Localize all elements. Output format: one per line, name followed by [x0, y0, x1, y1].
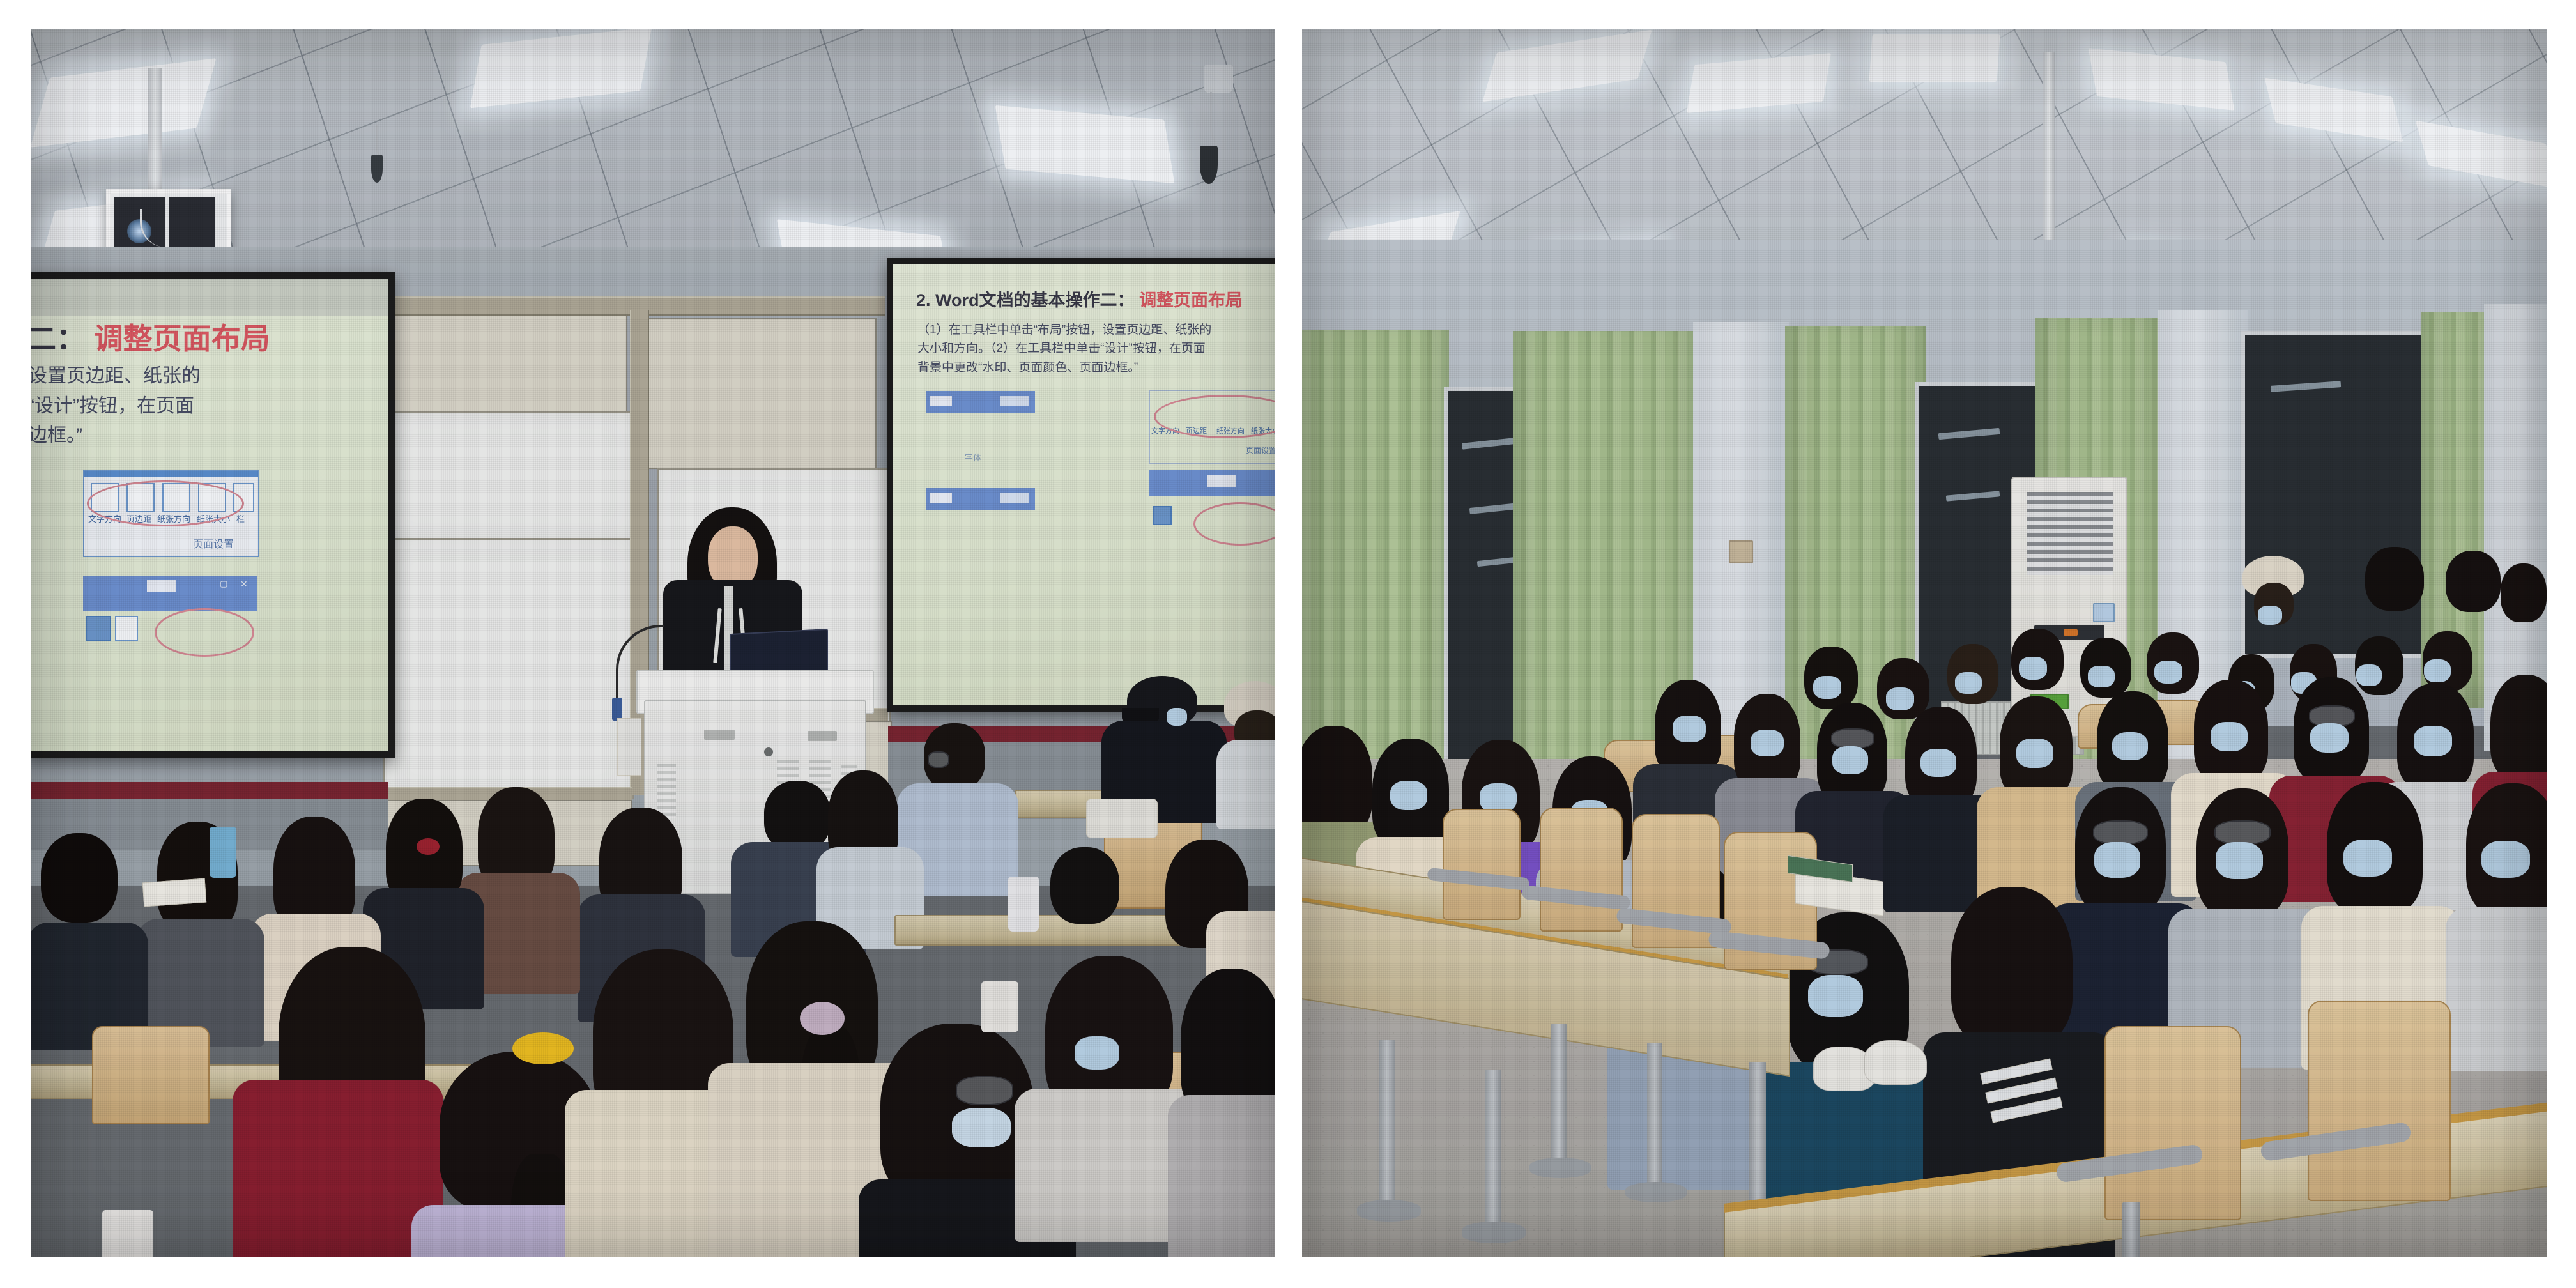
flip-seat-back [1443, 809, 1521, 920]
ribbon-group-label: 字体 [965, 451, 981, 463]
podium-side-panel [617, 718, 641, 776]
desk-foot [1462, 1222, 1526, 1243]
titlebar-chip [1000, 493, 1029, 503]
whiteboard [383, 411, 634, 540]
face-mask [2424, 659, 2451, 682]
projection-screen-right: 2. Word文档的基本操作二： 调整页面布局 （1）在工具栏中单击“布局”按钮… [887, 258, 1275, 712]
face-mask [1390, 781, 1427, 810]
face-mask [1808, 975, 1863, 1017]
slide-body-right: （1）在工具栏中单击“布局”按钮，设置页边距、纸张的 大小和方向。（2）在工具栏… [917, 321, 1275, 377]
seat-leg [1551, 1023, 1567, 1164]
titlebar-chip [1207, 475, 1236, 487]
flip-seat-back [1540, 808, 1623, 931]
slide-title-right: 2. Word文档的基本操作二： 调整页面布局 [916, 286, 1243, 311]
slide-body-line: （1）在工具栏中单击“布局”按钮，设置页边距、纸张的 [917, 321, 1275, 339]
screen-surface-left: 二： 调整页面布局 设置页边距、纸张的 “设计”按钮，在页面 边框。” [31, 279, 388, 751]
photo-composite: 二： 调整页面布局 设置页边距、纸张的 “设计”按钮，在页面 边框。” [0, 0, 2576, 1288]
face-mask [1920, 749, 1956, 777]
window-light-reflection [1938, 428, 2000, 440]
wall-panel [644, 318, 877, 469]
water-bottle [1008, 877, 1039, 931]
right-photo-classroom-audience [1302, 29, 2547, 1257]
desk-foot [1357, 1200, 1421, 1222]
maximize-icon: ▢ [220, 579, 227, 589]
face-mask [2019, 657, 2047, 680]
ribbon-accent-bar [84, 471, 258, 477]
podium-slot [704, 730, 735, 740]
annotation-ellipse [155, 608, 254, 657]
hair-scrunchie [417, 838, 440, 855]
slide-body-left: 设置页边距、纸张的 “设计”按钮，在页面 边框。” [31, 362, 201, 451]
face-mask [1751, 730, 1784, 756]
ribbon-label: 栏 [236, 512, 245, 525]
face-mask [2154, 661, 2182, 684]
face-mask [1075, 1036, 1119, 1069]
slide-title-prefix: 二： [31, 322, 86, 355]
hair-clip [512, 1032, 574, 1064]
audience-chairback [92, 1026, 210, 1124]
eyeglasses [956, 1076, 1013, 1105]
face-mask [2356, 664, 2382, 686]
face-mask [1813, 676, 1841, 699]
face-mask [2211, 722, 2248, 751]
slide-body-line: 大小和方向。（2）在工具栏中单击“设计”按钮，在页面 [917, 339, 1275, 358]
annotation-ellipse [87, 480, 244, 526]
podium-slot [808, 731, 837, 741]
face-mask [2216, 842, 2263, 879]
word-titlebar-mock: — ▢ ✕ [83, 576, 257, 611]
face-mask [1167, 708, 1187, 726]
close-icon: ✕ [240, 579, 248, 590]
ceiling-light [1869, 34, 2000, 82]
eyeglasses [2214, 820, 2271, 845]
projection-screen-left: 二： 调整页面布局 设置页边距、纸张的 “设计”按钮，在页面 边框。” [31, 272, 395, 758]
student-head [41, 833, 118, 923]
face-mask [1832, 746, 1868, 774]
thermos-cup [102, 1210, 153, 1257]
face-mask [2112, 732, 2148, 760]
seat-foot [1625, 1182, 1687, 1202]
wall-outlet [1729, 540, 1753, 563]
ceiling-speaker [1200, 146, 1218, 184]
wall-panel [388, 310, 627, 414]
titlebar-chip [147, 580, 176, 592]
face-mask [1955, 672, 1982, 694]
face-mask [2414, 726, 2452, 756]
slide-body-line: 背景中更改“水印、页面颜色、页面边框。” [917, 358, 1275, 377]
face-mask [2310, 723, 2349, 753]
annotation-ellipse [1193, 502, 1275, 546]
screen-surface-right: 2. Word文档的基本操作二： 调整页面布局 （1）在工具栏中单击“布局”按钮… [893, 264, 1275, 705]
desk-leg [1379, 1040, 1395, 1206]
jacket-on-desk [1086, 799, 1158, 838]
seat-leg [1749, 1062, 1766, 1215]
face-mask [2258, 606, 2282, 625]
projector-mount-pole [2043, 52, 2055, 270]
left-photo-description: Lecture hall seen from the back rows: ce… [0, 0, 1, 1]
student-torso [2446, 907, 2547, 1071]
slide-body-line: 边框。” [31, 421, 201, 451]
slide-title-dark: Word文档的基本操作二： [935, 291, 1135, 310]
wall-red-stripe [31, 782, 388, 799]
face-mask [952, 1108, 1011, 1147]
thermos-cup [981, 981, 1018, 1032]
seat-foot [1529, 1158, 1591, 1178]
ribbon-group-label: 页面设置 [193, 535, 234, 551]
ribbon-group-label: 页面设置 [1246, 445, 1275, 456]
podium-microphone-head [612, 698, 622, 721]
student-torso [1216, 740, 1275, 829]
eyeglasses [928, 751, 949, 768]
window-light-reflection [2271, 381, 2341, 392]
slide-title-highlight: 调整页面布局 [1139, 291, 1243, 310]
minimize-icon: — [193, 579, 202, 589]
student-head [2446, 551, 2501, 612]
face-mask [2343, 839, 2392, 877]
face-mask [1673, 716, 1706, 742]
flip-seat-back [2308, 1000, 2451, 1201]
titlebar-chip [1000, 396, 1029, 406]
face-mask [2481, 841, 2530, 878]
projector-mount-pole [148, 68, 162, 195]
word-titlebar-mock [926, 391, 1035, 413]
seat-leg [1647, 1043, 1662, 1190]
ribbon-page-setup: 文字方向 页边距 纸张方向 纸张大小 栏 页面设置 [83, 470, 259, 557]
podium-vent [657, 764, 676, 818]
student-head [764, 781, 831, 851]
ribbon-page-setup: 文字方向 页边距 纸张方向 纸张大小 栏 页面设置 [1149, 390, 1275, 464]
air-conditioner-badge [2093, 603, 2115, 622]
word-titlebar-mock [926, 488, 1035, 510]
face-mask [2094, 842, 2140, 878]
student-hair [2490, 675, 2547, 779]
window-light-reflection [1946, 491, 2000, 501]
student-hair [1951, 887, 2073, 1045]
desk-leg [1485, 1069, 1501, 1229]
seat-leg [2122, 1202, 2140, 1257]
screen-top-edge [31, 279, 388, 316]
slide-title-number: 2. [916, 291, 931, 310]
face-mask [2088, 666, 2115, 687]
face-mask [1886, 687, 1914, 710]
water-bottle [210, 827, 236, 878]
whiteboard [383, 538, 634, 799]
slide-title-left: 二： 调整页面布局 [31, 316, 270, 358]
paste-icon [86, 616, 111, 641]
slide-body-line: 设置页边距、纸张的 [31, 362, 201, 392]
student-shoe [1864, 1040, 1927, 1085]
slide-body-line: “设计”按钮，在页面 [31, 392, 201, 422]
left-photo-lecture-hall: 二： 调整页面布局 设置页边距、纸张的 “设计”按钮，在页面 边框。” [31, 29, 1275, 1257]
student-hair [1302, 726, 1372, 834]
air-conditioner-grille [2027, 492, 2113, 575]
eyeglasses [2093, 820, 2148, 845]
podium-indicator [764, 747, 773, 756]
air-conditioner-led [2064, 629, 2078, 636]
titlebar-chip [930, 396, 952, 406]
right-photo-description: Wide view across the same classroom: tie… [0, 0, 1, 1]
word-titlebar-mock [1149, 470, 1275, 496]
student-head [1050, 847, 1119, 924]
paste-icon [1153, 506, 1172, 525]
flip-seat-back [2104, 1026, 2241, 1220]
titlebar-chip [930, 493, 952, 503]
student-head [2501, 563, 2547, 622]
slide-title-highlight: 调整页面布局 [94, 322, 270, 355]
student-torso [1168, 1095, 1275, 1257]
font-icon [115, 616, 138, 641]
ceiling-speaker [371, 155, 383, 183]
face-mask [2016, 739, 2053, 768]
ceiling-speaker [1204, 65, 1233, 93]
hair-scrunchie [800, 1002, 845, 1035]
student-head [2365, 547, 2424, 611]
notebook-on-desk [142, 878, 206, 907]
